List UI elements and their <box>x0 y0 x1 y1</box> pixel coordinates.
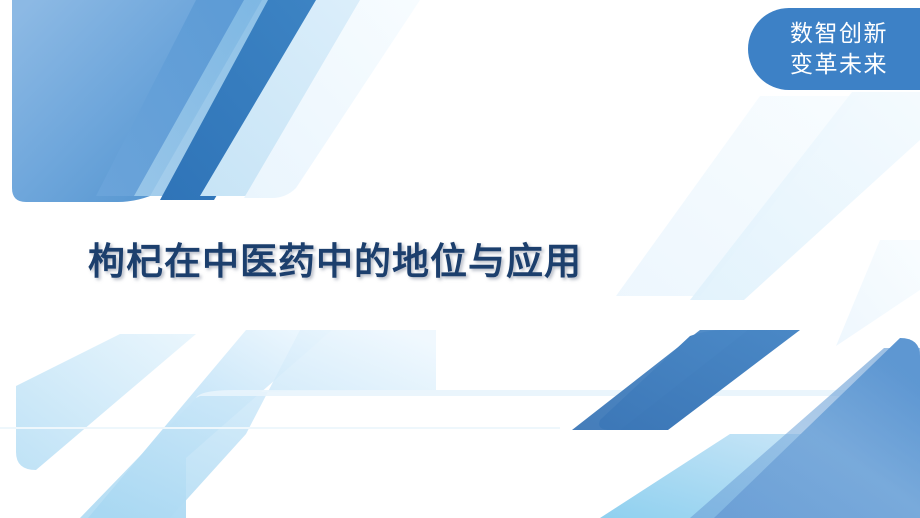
top-right-faint-stripes <box>616 92 920 346</box>
bottom-right-dark-band <box>572 330 800 430</box>
title-slide: 数智创新 变革未来 枸杞在中医药中的地位与应用 <box>0 0 920 518</box>
page-title: 枸杞在中医药中的地位与应用 <box>88 231 582 285</box>
badge-line-1: 数智创新 <box>790 18 888 49</box>
badge-line-2: 变革未来 <box>790 49 888 80</box>
corner-badge: 数智创新 变革未来 <box>748 8 920 90</box>
